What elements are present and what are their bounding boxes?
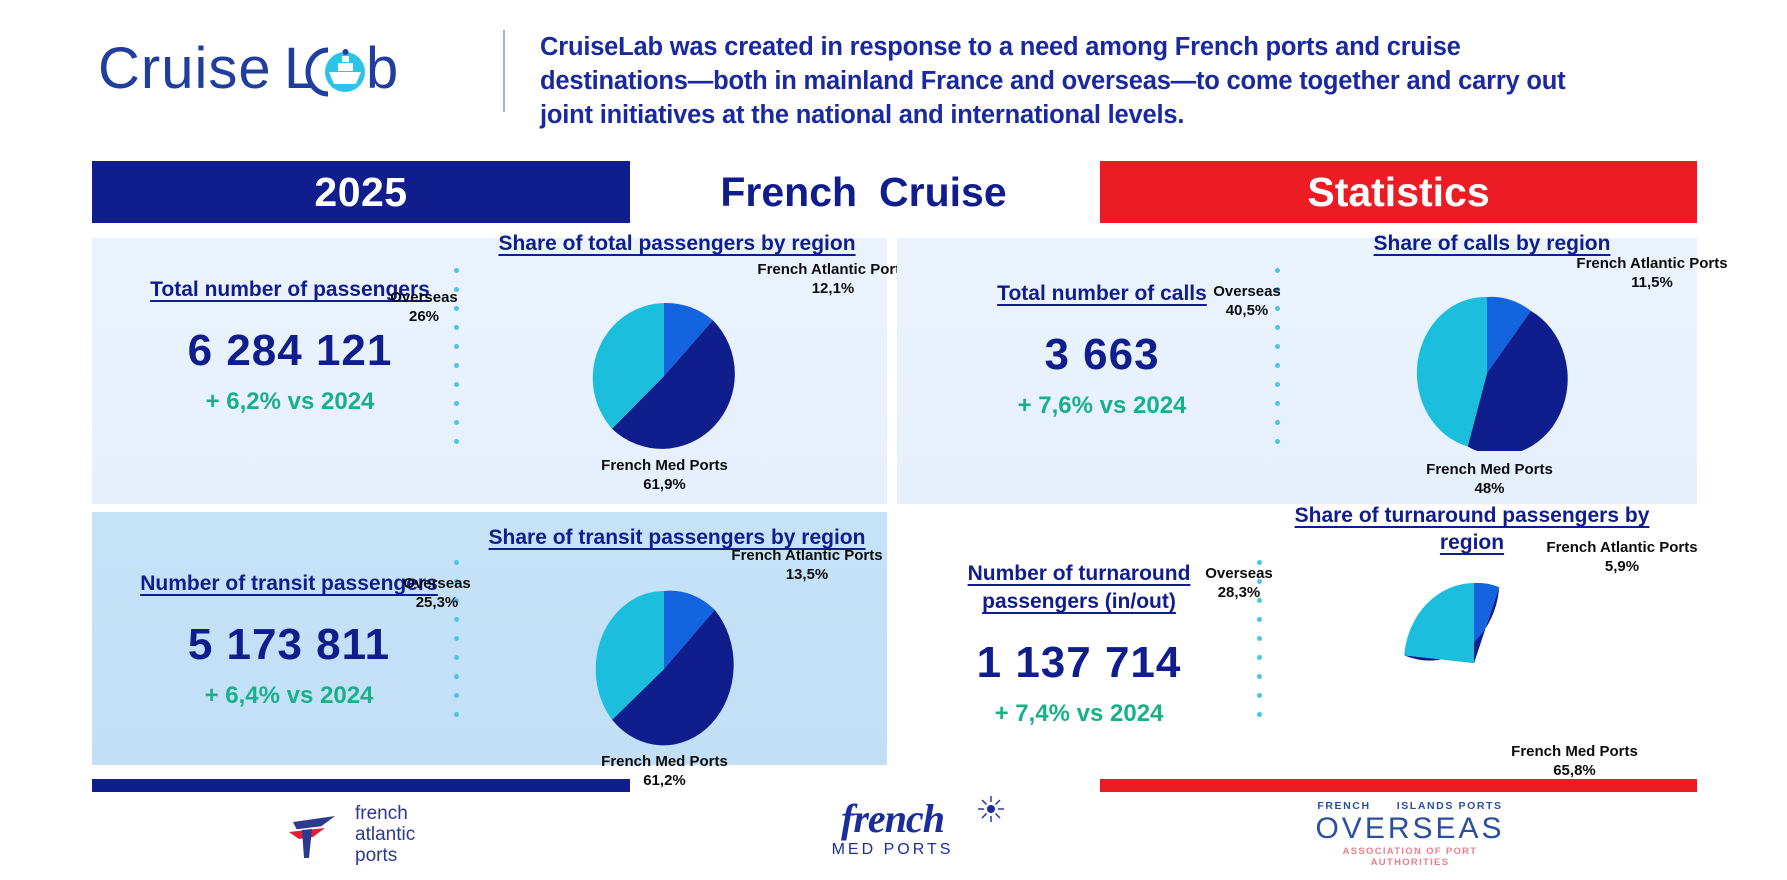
stat-delta: + 7,6% vs 2024 [937, 392, 1267, 420]
stat-value: 1 137 714 [919, 638, 1239, 688]
title-cruise: Cruise [879, 169, 1007, 216]
overseas-logo-toprow: FRENCH ISLANDS PORTS [1310, 800, 1510, 812]
svg-text:Cruise: Cruise [98, 38, 272, 101]
panel-transit-passengers: Number of transit passengers 5 173 811 +… [92, 512, 887, 765]
title-year: 2025 [314, 169, 407, 216]
svg-text:b: b [366, 38, 398, 101]
pie-label-med: French Med Ports 48% [1392, 460, 1587, 498]
pie-chart-transit [579, 590, 749, 748]
pie-label-atlantic: French Atlantic Ports 5,9% [1527, 538, 1717, 576]
logo-french-overseas-ports: FRENCH ISLANDS PORTS OVERSEAS ASSOCIATIO… [1310, 800, 1510, 868]
title-bar: 2025 French Cruise Statistics [0, 161, 1787, 223]
sunburst-icon [978, 796, 1004, 822]
logo-french-atlantic-ports: french atlantic ports [285, 800, 495, 868]
infographic-page: Cruise L b CruiseLab was created in resp… [0, 0, 1787, 880]
svg-text:L: L [284, 38, 316, 101]
footer-bar-right [1100, 779, 1697, 792]
pie-label-atlantic: French Atlantic Ports 11,5% [1557, 254, 1747, 292]
pie-label-overseas: Overseas 28,3% [1179, 564, 1299, 602]
cruiselab-logo: Cruise L b [98, 38, 458, 104]
panel-total-calls: Total number of calls 3 663 + 7,6% vs 20… [897, 238, 1697, 504]
chart-title-calls: Share of calls by region [1307, 230, 1677, 257]
stat-value: 6 284 121 [120, 326, 460, 376]
panel-total-passengers: Total number of passengers 6 284 121 + 6… [92, 238, 887, 504]
header-divider [503, 30, 505, 112]
french-med-ports-subtitle: MED PORTS [785, 841, 1000, 859]
title-year-block: 2025 [92, 161, 630, 223]
pie-label-med: French Med Ports 61,9% [567, 456, 762, 494]
pie-chart-calls [1402, 296, 1572, 451]
french-med-ports-script: french [785, 798, 1000, 840]
footer-bar-left [92, 779, 630, 792]
french-atlantic-ports-mark [285, 806, 343, 862]
stat-value: 3 663 [937, 330, 1267, 380]
pie-label-med: French Med Ports 65,8% [1477, 742, 1672, 780]
header-intro-text: CruiseLab was created in response to a n… [540, 30, 1600, 132]
stat-value: 5 173 811 [114, 620, 464, 670]
slice-overseas [1404, 583, 1474, 663]
title-statistics: Statistics [1307, 169, 1489, 216]
header: Cruise L b CruiseLab was created in resp… [0, 0, 1787, 140]
panel-turnaround-passengers: Number of turnaround passengers (in/out)… [897, 512, 1697, 765]
pie-chart-total-passengers [579, 301, 749, 451]
overseas-logo-subtitle: ASSOCIATION OF PORT AUTHORITIES [1310, 846, 1510, 868]
title-center-block: French Cruise [630, 161, 1097, 223]
stat-delta: + 6,4% vs 2024 [114, 682, 464, 710]
chart-title-total-passengers: Share of total passengers by region [467, 230, 887, 257]
title-statistics-block: Statistics [1100, 161, 1697, 223]
pie-chart-turnaround [1384, 582, 1564, 744]
title-french: French [720, 169, 857, 216]
pie-label-atlantic: French Atlantic Ports 13,5% [712, 546, 902, 584]
overseas-logo-main: OVERSEAS [1310, 812, 1510, 845]
stat-delta: + 6,2% vs 2024 [120, 388, 460, 416]
french-atlantic-ports-text: french atlantic ports [355, 803, 415, 866]
cruise-ship-icon [325, 49, 365, 92]
pie-label-overseas: Overseas 26% [369, 288, 479, 326]
logo-french-med-ports: french MED PORTS [785, 798, 1000, 868]
pie-label-overseas: Overseas 40,5% [1187, 282, 1307, 320]
stat-delta: + 7,4% vs 2024 [919, 700, 1239, 728]
pie-label-overseas: Overseas 25,3% [377, 574, 497, 612]
